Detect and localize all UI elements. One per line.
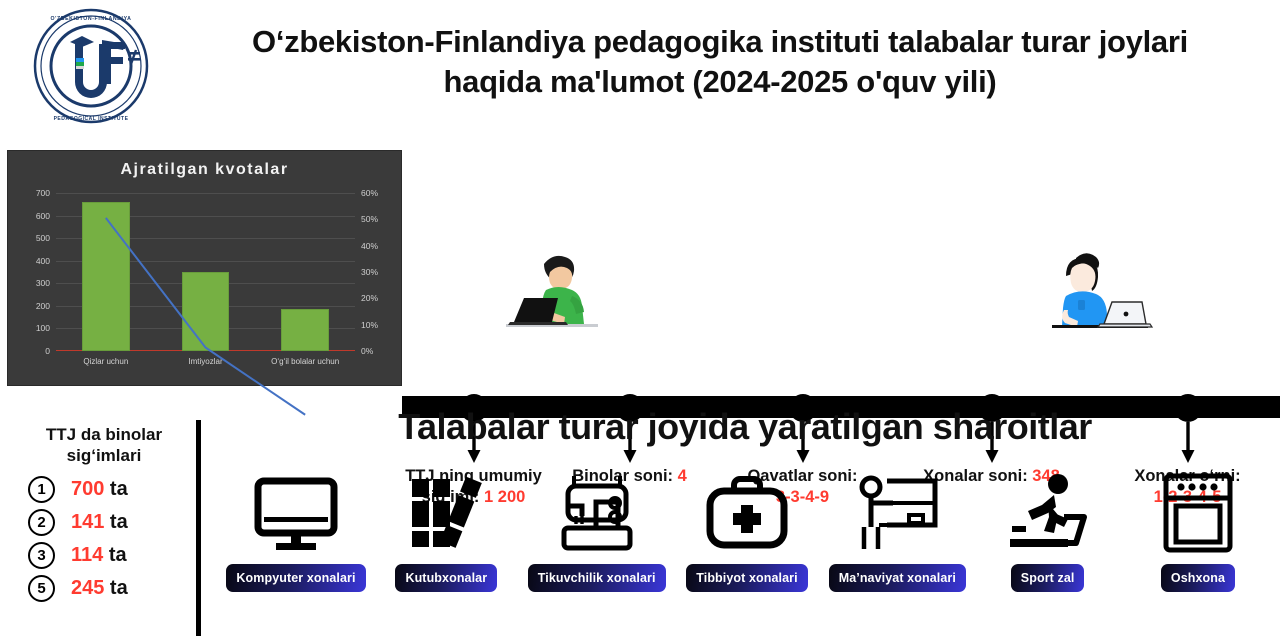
capacity-value: 141 ta (71, 511, 128, 534)
condition-label: Tikuvchilik xonalari (528, 564, 666, 592)
logo-icon: O'ZBEKISTON-FINLANDIYA PEDAGOGICAL INSTI… (18, 6, 164, 126)
capacity-index-badge: 5 (28, 575, 55, 602)
institute-logo: O'ZBEKISTON-FINLANDIYA PEDAGOGICAL INSTI… (18, 6, 164, 126)
condition-label: Tibbiyot xonalari (686, 564, 808, 592)
vertical-divider (196, 420, 201, 636)
timeline-node-1[interactable]: TTJ ning umumiy sig‘imi: 1 200 (473, 150, 474, 151)
building-capacity-panel: TTJ da binolar sig‘imlari 1700 ta2141 ta… (0, 418, 208, 642)
condition-item-computer[interactable]: Kompyuter xonalari (222, 470, 370, 592)
condition-label: Ma’naviyat xonalari (829, 564, 966, 592)
timeline-node-5[interactable]: Xonalar o‘rni: 1-2-3-4-5 (1187, 150, 1188, 151)
capacity-row: 1700 ta (0, 473, 208, 506)
svg-text:O'ZBEKISTON-FINLANDIYA: O'ZBEKISTON-FINLANDIYA (50, 16, 131, 22)
condition-item-sport[interactable]: Sport zal (974, 470, 1122, 592)
timeline-node-4[interactable]: Xonalar soni: 348 (991, 150, 992, 151)
capacity-row: 3114 ta (0, 539, 208, 572)
woman-with-laptop-illustration (1042, 250, 1154, 335)
condition-item-medical[interactable]: Tibbiyot xonalari (673, 470, 821, 592)
title-line-2: haqida ma'lumot (2024-2025 o'quv yili) (170, 62, 1270, 102)
capacity-row: 5245 ta (0, 572, 208, 605)
header: O'ZBEKISTON-FINLANDIYA PEDAGOGICAL INSTI… (0, 0, 1280, 132)
man-with-laptop-illustration (500, 250, 606, 333)
capacity-value: 114 ta (71, 544, 127, 567)
monitor-icon (250, 470, 342, 556)
stove-oven-icon (1158, 470, 1238, 556)
page-title: O‘zbekiston-Finlandiya pedagogika instit… (170, 22, 1270, 101)
condition-label: Sport zal (1011, 564, 1085, 592)
condition-item-kitchen[interactable]: Oshxona (1124, 470, 1272, 592)
presenter-board-icon (851, 470, 943, 556)
capacity-title: TTJ da binolar sig‘imlari (0, 418, 208, 467)
condition-label: Oshxona (1161, 564, 1235, 592)
condition-label: Kutubxonalar (395, 564, 497, 592)
condition-item-library[interactable]: Kutubxonalar (372, 470, 520, 592)
timeline-section: TTJ ning umumiy sig‘imi: 1 200 (0, 150, 1280, 390)
capacity-list: 1700 ta2141 ta3114 ta5245 ta (0, 473, 208, 605)
capacity-index-badge: 3 (28, 542, 55, 569)
conditions-title: Talabalar turar joyida yaratilgan sharoi… (210, 406, 1280, 448)
conditions-row: Kompyuter xonalari Kutubxonalar (222, 470, 1272, 630)
timeline-node-3[interactable]: Qavatlar soni: 3-3-4-9 (802, 150, 803, 151)
condition-item-sewing[interactable]: Tikuvchilik xonalari (523, 470, 671, 592)
first-aid-kit-icon (704, 470, 790, 556)
capacity-index-badge: 1 (28, 476, 55, 503)
capacity-title-line-2: sig‘imlari (0, 445, 208, 466)
capacity-value: 700 ta (71, 478, 128, 501)
treadmill-icon (1002, 470, 1094, 556)
capacity-index-badge: 2 (28, 509, 55, 536)
svg-text:PEDAGOGICAL INSTITUTE: PEDAGOGICAL INSTITUTE (54, 116, 129, 122)
condition-item-spirituality[interactable]: Ma’naviyat xonalari (823, 470, 971, 592)
capacity-title-line-1: TTJ da binolar (0, 424, 208, 445)
sewing-machine-icon (552, 470, 642, 556)
timeline-node-2[interactable]: Binolar soni: 4 (629, 150, 630, 151)
condition-label: Kompyuter xonalari (226, 564, 365, 592)
books-icon (402, 470, 490, 556)
capacity-row: 2141 ta (0, 506, 208, 539)
capacity-value: 245 ta (71, 577, 128, 600)
title-line-1: O‘zbekiston-Finlandiya pedagogika instit… (170, 22, 1270, 62)
